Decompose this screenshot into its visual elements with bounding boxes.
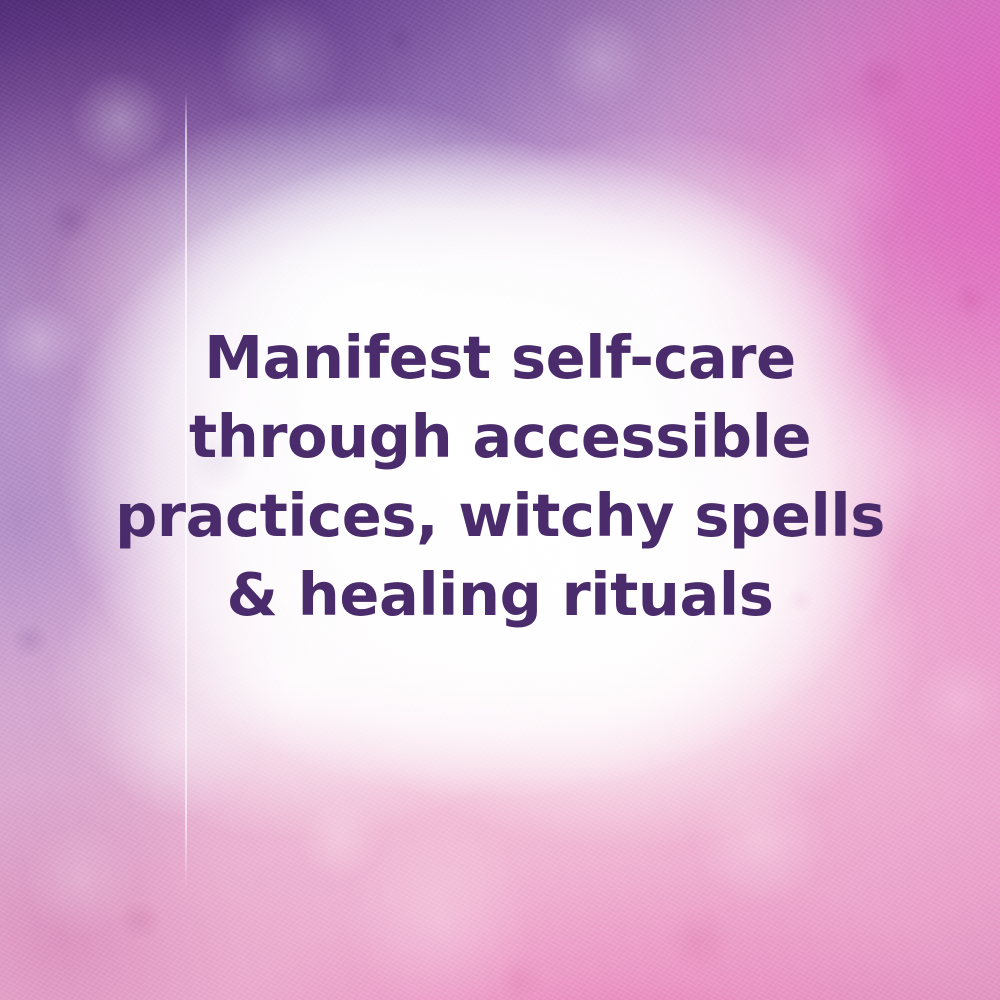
headline-line-1: Manifest self-care <box>0 318 1000 397</box>
headline-line-2: through accessible <box>0 397 1000 476</box>
headline-line-3: practices, witchy spells <box>0 476 1000 555</box>
headline: Manifest self-care through accessible pr… <box>0 318 1000 634</box>
artwork-canvas: Manifest self-care through accessible pr… <box>0 0 1000 1000</box>
headline-line-4: & healing rituals <box>0 555 1000 634</box>
